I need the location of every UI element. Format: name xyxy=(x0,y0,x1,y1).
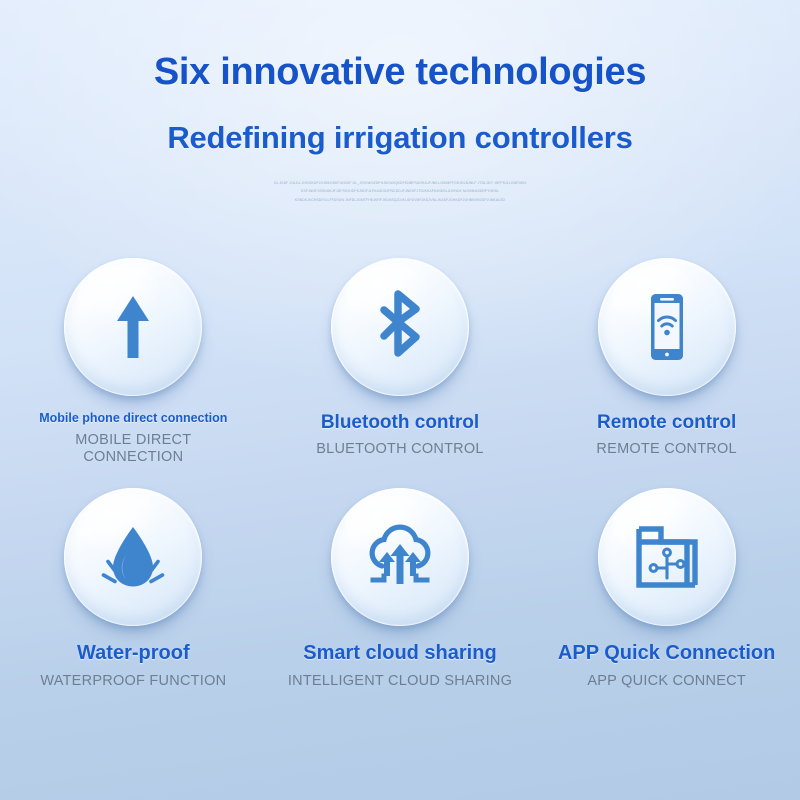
feature-subtitle: REMOTE CONTROL xyxy=(547,441,787,458)
fineprint-line-1: DL JKDF JGLDL JHGOKDFJGJNKGSKFJKGDF JIL_… xyxy=(200,179,600,187)
feature-labels: Smart cloud sharing INTELLIGENT CLOUD SH… xyxy=(280,641,520,690)
feature-labels: Remote control REMOTE CONTROL xyxy=(547,411,787,459)
water-drop-icon xyxy=(91,515,175,599)
page-header: Six innovative technologies Redefining i… xyxy=(0,0,800,155)
page-title: Six innovative technologies xyxy=(0,52,800,94)
page-subtitle: Redefining irrigation controllers xyxy=(0,121,800,155)
feature-icon-bubble xyxy=(598,258,736,396)
feature-subtitle: WATERPROOF FUNCTION xyxy=(13,673,253,690)
cloud-upload-icon xyxy=(357,514,443,600)
feature-labels: APP Quick Connection APP QUICK CONNECT xyxy=(547,641,787,690)
feature-labels: Bluetooth control BLUETOOTH CONTROL xyxy=(280,411,520,459)
feature-grid: Mobile phone direct connection MOBILE DI… xyxy=(0,258,800,690)
feature-item-remote-control[interactable]: Remote control REMOTE CONTROL xyxy=(533,258,800,466)
bluetooth-icon xyxy=(360,287,440,367)
fineprint-line-2: DSFJNGFJSDNGKJFJDFSGHJDFKJSDFJLFKASDGJFN… xyxy=(200,187,600,195)
feature-item-waterproof[interactable]: Water-proof WATERPROOF FUNCTION xyxy=(0,488,267,690)
folder-network-icon xyxy=(626,516,708,598)
feature-labels: Mobile phone direct connection MOBILE DI… xyxy=(38,411,228,466)
feature-subtitle: BLUETOOTH CONTROL xyxy=(280,441,520,458)
phone-wifi-icon xyxy=(627,287,707,367)
arrow-up-icon xyxy=(93,287,173,367)
feature-title: APP Quick Connection xyxy=(547,641,787,665)
feature-item-app-quick-connection[interactable]: APP Quick Connection APP QUICK CONNECT xyxy=(533,488,800,690)
feature-title: Smart cloud sharing xyxy=(280,641,520,665)
feature-item-smart-cloud-sharing[interactable]: Smart cloud sharing INTELLIGENT CLOUD SH… xyxy=(267,488,534,690)
feature-icon-bubble xyxy=(331,258,469,396)
fineprint-line-3: KSNDKJVCHSDFJLLFFDSGN JNFDLJGMTFHEJKRFJK… xyxy=(200,196,600,204)
feature-labels: Water-proof WATERPROOF FUNCTION xyxy=(13,641,253,690)
feature-title: Remote control xyxy=(547,411,787,434)
feature-title: Mobile phone direct connection xyxy=(38,411,228,427)
feature-title: Bluetooth control xyxy=(280,411,520,434)
feature-icon-bubble xyxy=(331,488,469,626)
feature-subtitle: INTELLIGENT CLOUD SHARING xyxy=(280,673,520,690)
feature-icon-bubble xyxy=(64,258,202,396)
feature-subtitle: APP QUICK CONNECT xyxy=(547,673,787,690)
feature-title: Water-proof xyxy=(13,641,253,665)
fineprint-block: DL JKDF JGLDL JHGOKDFJGJNKGSKFJKGDF JIL_… xyxy=(200,179,600,204)
feature-icon-bubble xyxy=(598,488,736,626)
feature-item-bluetooth-control[interactable]: Bluetooth control BLUETOOTH CONTROL xyxy=(267,258,534,466)
feature-item-mobile-direct-connection[interactable]: Mobile phone direct connection MOBILE DI… xyxy=(0,258,267,466)
feature-icon-bubble xyxy=(64,488,202,626)
feature-subtitle: MOBILE DIRECT CONNECTION xyxy=(38,432,228,467)
